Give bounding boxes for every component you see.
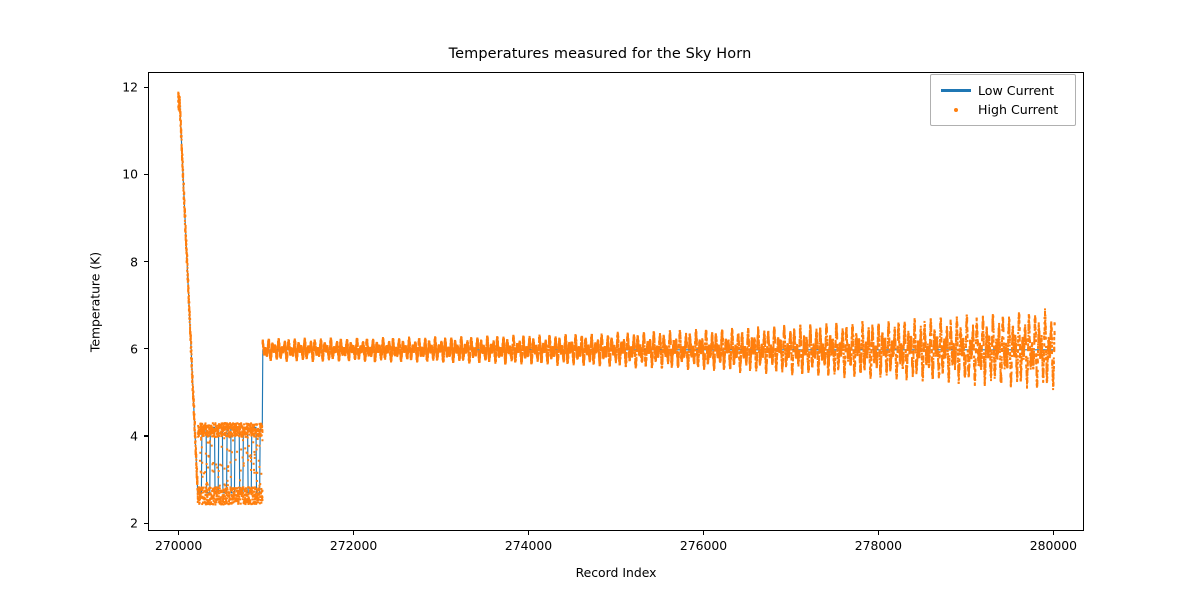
series-high-current <box>177 92 1055 506</box>
y-tickmark <box>144 87 148 88</box>
plot-svg <box>149 73 1084 531</box>
series-low-current <box>178 99 1055 493</box>
chart-legend: Low Current High Current <box>930 74 1076 126</box>
legend-item-high-current: High Current <box>939 100 1067 119</box>
plot-area <box>148 72 1084 531</box>
chart-figure: Temperatures measured for the Sky Horn T… <box>0 0 1200 600</box>
y-tick-label: 6 <box>98 341 138 356</box>
y-tick-label: 4 <box>98 428 138 443</box>
y-tick-label: 2 <box>98 516 138 531</box>
x-tick-label: 270000 <box>155 538 202 553</box>
y-tickmark <box>144 348 148 349</box>
x-tickmark <box>1053 531 1054 535</box>
y-tick-label: 12 <box>98 80 138 95</box>
x-tickmark <box>703 531 704 535</box>
legend-dot-swatch <box>939 108 973 112</box>
x-tick-label: 278000 <box>855 538 902 553</box>
y-tickmark <box>144 261 148 262</box>
x-tickmark <box>528 531 529 535</box>
x-tickmark <box>878 531 879 535</box>
legend-line-swatch <box>939 89 973 91</box>
x-tickmark <box>178 531 179 535</box>
y-tickmark <box>144 435 148 436</box>
y-tickmark <box>144 523 148 524</box>
y-tick-label: 8 <box>98 254 138 269</box>
legend-label-low-current: Low Current <box>978 83 1054 98</box>
x-tick-label: 276000 <box>680 538 727 553</box>
chart-title: Temperatures measured for the Sky Horn <box>0 46 1200 62</box>
y-tickmark <box>144 174 148 175</box>
x-axis-label: Record Index <box>576 565 657 580</box>
low-current-line <box>178 99 1055 493</box>
x-tickmark <box>353 531 354 535</box>
x-tick-label: 274000 <box>505 538 552 553</box>
legend-label-high-current: High Current <box>978 102 1058 117</box>
legend-item-low-current: Low Current <box>939 81 1067 100</box>
x-tick-label: 280000 <box>1030 538 1077 553</box>
x-tick-label: 272000 <box>330 538 377 553</box>
y-tick-label: 10 <box>98 167 138 182</box>
